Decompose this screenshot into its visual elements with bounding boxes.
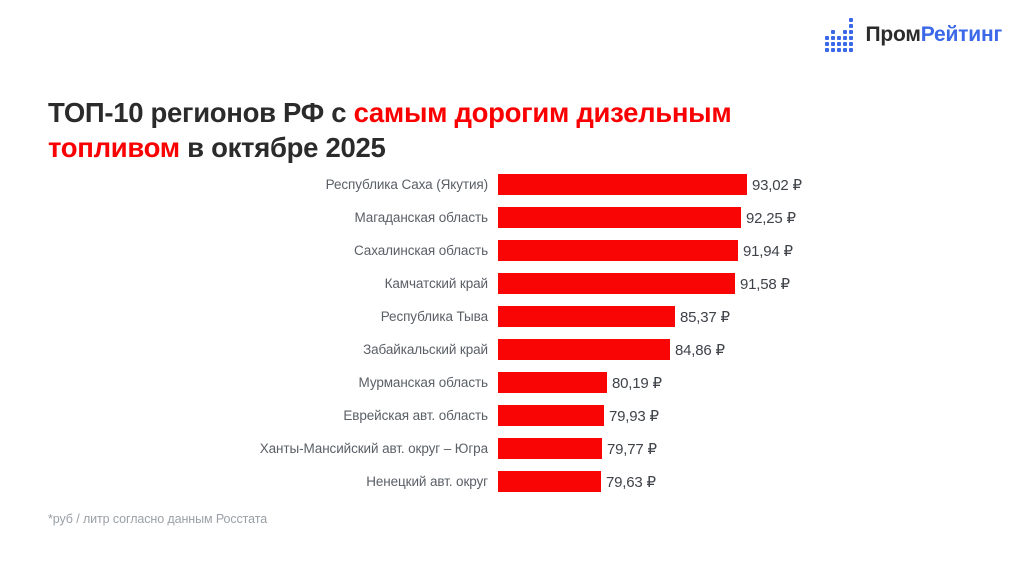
category-label: Республика Саха (Якутия) — [0, 177, 498, 192]
bar — [498, 471, 601, 492]
logo-dot — [843, 36, 847, 40]
logo-dot — [849, 42, 853, 46]
bar-chart: Республика Саха (Якутия)93,02 ₽Магаданск… — [0, 168, 1030, 498]
bar-container: 79,63 ₽ — [498, 471, 1030, 492]
bar-value-label: 79,93 ₽ — [604, 407, 659, 425]
category-label: Сахалинская область — [0, 243, 498, 258]
logo-dot — [831, 42, 835, 46]
brand-name-part2: Рейтинг — [921, 23, 1002, 46]
bar — [498, 273, 735, 294]
bar-value-label: 92,25 ₽ — [741, 209, 796, 227]
logo-column-4 — [843, 30, 847, 52]
page-title: ТОП-10 регионов РФ с самым дорогим дизел… — [48, 96, 948, 166]
chart-row: Ненецкий авт. округ79,63 ₽ — [0, 465, 1030, 498]
logo-column-3 — [837, 36, 841, 52]
logo-column-5 — [849, 18, 853, 52]
logo-dot — [849, 24, 853, 28]
bar-container: 91,58 ₽ — [498, 273, 1030, 294]
logo-column-1 — [825, 36, 829, 52]
category-label: Республика Тыва — [0, 309, 498, 324]
chart-row: Сахалинская область91,94 ₽ — [0, 234, 1030, 267]
bar-container: 92,25 ₽ — [498, 207, 1030, 228]
bar-value-label: 79,77 ₽ — [602, 440, 657, 458]
logo-column-2 — [831, 30, 835, 52]
bar-container: 91,94 ₽ — [498, 240, 1030, 261]
logo-dot — [831, 30, 835, 34]
logo-dot — [849, 18, 853, 22]
bar-container: 80,19 ₽ — [498, 372, 1030, 393]
logo-dot — [849, 36, 853, 40]
chart-row: Республика Тыва85,37 ₽ — [0, 300, 1030, 333]
category-label: Ненецкий авт. округ — [0, 474, 498, 489]
bar-value-label: 85,37 ₽ — [675, 308, 730, 326]
bar — [498, 405, 604, 426]
logo-dot — [837, 48, 841, 52]
chart-row: Мурманская область80,19 ₽ — [0, 366, 1030, 399]
bar — [498, 306, 675, 327]
category-label: Магаданская область — [0, 210, 498, 225]
category-label: Мурманская область — [0, 375, 498, 390]
brand-wordmark: ПромРейтинг — [865, 23, 1002, 47]
category-label: Еврейская авт. область — [0, 408, 498, 423]
logo-dot — [825, 42, 829, 46]
bar-value-label: 80,19 ₽ — [607, 374, 662, 392]
logo-dot — [849, 30, 853, 34]
logo-dot — [849, 48, 853, 52]
bar — [498, 174, 747, 195]
logo-dot — [843, 48, 847, 52]
chart-row: Еврейская авт. область79,93 ₽ — [0, 399, 1030, 432]
logo-dot — [825, 36, 829, 40]
logo-dot — [837, 42, 841, 46]
bar-value-label: 79,63 ₽ — [601, 473, 656, 491]
category-label: Ханты-Мансийский авт. округ – Югра — [0, 441, 498, 456]
chart-footnote: *руб / литр согласно данным Росстата — [48, 512, 267, 526]
bar — [498, 339, 670, 360]
logo-dot — [831, 48, 835, 52]
bar-container: 93,02 ₽ — [498, 174, 1030, 195]
bar-container: 79,93 ₽ — [498, 405, 1030, 426]
title-line2-highlight: топливом — [48, 132, 180, 163]
logo-dot — [843, 30, 847, 34]
chart-row: Ханты-Мансийский авт. округ – Югра79,77 … — [0, 432, 1030, 465]
chart-row: Камчатский край91,58 ₽ — [0, 267, 1030, 300]
bar — [498, 372, 607, 393]
bar-value-label: 93,02 ₽ — [747, 176, 802, 194]
bar-chart-dots-icon — [825, 18, 853, 52]
category-label: Забайкальский край — [0, 342, 498, 357]
logo-dot — [825, 48, 829, 52]
bar-container: 85,37 ₽ — [498, 306, 1030, 327]
title-line1-highlight: самым дорогим дизельным — [354, 97, 732, 128]
chart-row: Забайкальский край84,86 ₽ — [0, 333, 1030, 366]
logo-dot — [843, 42, 847, 46]
chart-row: Магаданская область92,25 ₽ — [0, 201, 1030, 234]
bar — [498, 438, 602, 459]
bar-value-label: 91,94 ₽ — [738, 242, 793, 260]
chart-row: Республика Саха (Якутия)93,02 ₽ — [0, 168, 1030, 201]
bar-container: 84,86 ₽ — [498, 339, 1030, 360]
brand-name-part1: Пром — [865, 23, 920, 46]
logo-dot — [837, 36, 841, 40]
bar — [498, 240, 738, 261]
bar-container: 79,77 ₽ — [498, 438, 1030, 459]
bar — [498, 207, 741, 228]
title-line2-plain: в октябре 2025 — [180, 132, 386, 163]
bar-value-label: 84,86 ₽ — [670, 341, 725, 359]
logo-dot — [831, 36, 835, 40]
bar-value-label: 91,58 ₽ — [735, 275, 790, 293]
category-label: Камчатский край — [0, 276, 498, 291]
brand-header: ПромРейтинг — [825, 18, 1002, 52]
title-line1-plain: ТОП-10 регионов РФ с — [48, 97, 354, 128]
